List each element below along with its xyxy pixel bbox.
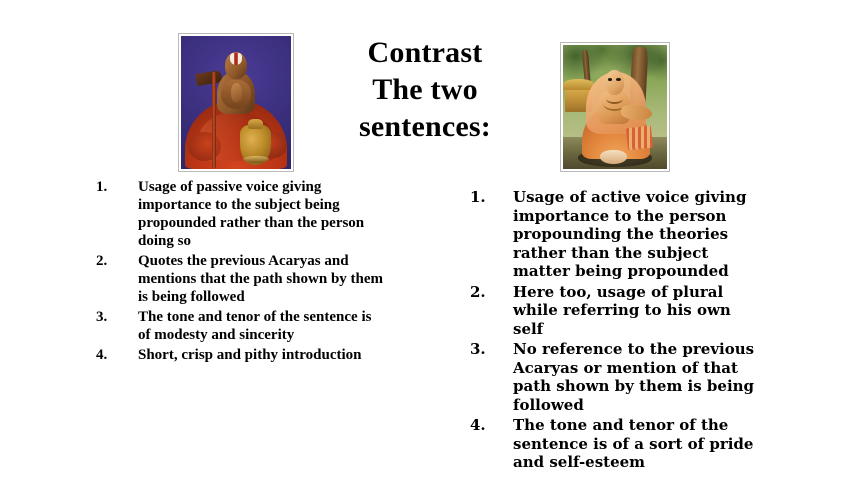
statue-kamandalu-pot	[240, 125, 271, 165]
list-item: 4. The tone and tenor of the sentence is…	[470, 416, 760, 472]
list-item: 3. The tone and tenor of the sentence is…	[96, 308, 386, 344]
title-line-1: Contrast	[300, 34, 550, 71]
list-item: 1. Usage of passive voice giving importa…	[96, 178, 386, 250]
presentation-slide: Contrast The two sentences:	[0, 0, 844, 494]
list-item-number: 2.	[470, 283, 513, 302]
title-line-2: The two	[300, 71, 550, 108]
right-bullet-list: 1. Usage of active voice giving importan…	[470, 188, 760, 474]
list-item-text: No reference to the previous Acaryas or …	[513, 340, 760, 414]
list-item-number: 4.	[96, 346, 138, 364]
painting-head	[605, 70, 625, 95]
list-item-number: 1.	[470, 188, 513, 207]
list-item-number: 4.	[470, 416, 513, 435]
statue-tridanda-staff	[212, 72, 216, 169]
list-item-number: 1.	[96, 178, 138, 196]
left-bullet-list: 1. Usage of passive voice giving importa…	[96, 178, 386, 366]
list-item-text: Usage of passive voice giving importance…	[138, 178, 386, 250]
list-item: 4. Short, crisp and pithy introduction	[96, 346, 386, 364]
statue-tilak-mark	[230, 53, 242, 65]
list-item: 1. Usage of active voice giving importan…	[470, 188, 760, 281]
title-line-3: sentences:	[300, 108, 550, 145]
list-item-text: The tone and tenor of the sentence is of…	[513, 416, 760, 472]
painting-scripture	[626, 126, 653, 151]
list-item-text: The tone and tenor of the sentence is of…	[138, 308, 386, 344]
list-item-text: Usage of active voice giving importance …	[513, 188, 760, 281]
list-item-text: Here too, usage of plural while referrin…	[513, 283, 760, 339]
ramanuja-statue-canvas	[181, 36, 291, 169]
list-item-number: 3.	[470, 340, 513, 359]
list-item-number: 2.	[96, 252, 138, 270]
page-title: Contrast The two sentences:	[300, 34, 550, 145]
list-item: 3. No reference to the previous Acaryas …	[470, 340, 760, 414]
list-item-text: Quotes the previous Acaryas and mentions…	[138, 252, 386, 306]
list-item: 2. Quotes the previous Acaryas and menti…	[96, 252, 386, 306]
list-item: 2. Here too, usage of plural while refer…	[470, 283, 760, 339]
list-item-text: Short, crisp and pithy introduction	[138, 346, 386, 364]
shankaracharya-canvas	[563, 45, 667, 169]
statue-hands	[231, 83, 242, 103]
ramanuja-statue-image	[178, 33, 294, 172]
shankaracharya-painting-image	[560, 42, 670, 172]
list-item-number: 3.	[96, 308, 138, 326]
